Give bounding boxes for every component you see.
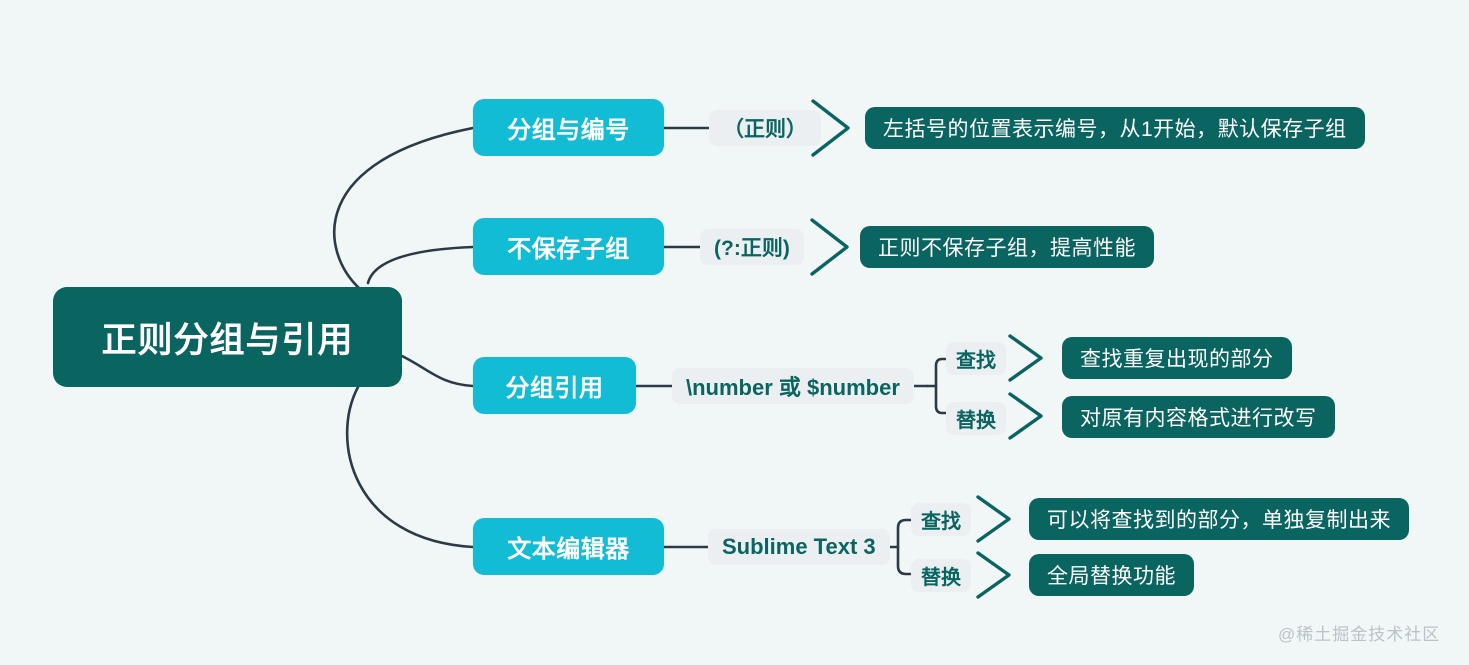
bracket-branch-4 <box>898 520 911 574</box>
leaf-note-grouping[interactable]: 左括号的位置表示编号，从1开始，默认保存子组 <box>865 107 1365 149</box>
leaf-label: 对原有内容格式进行改写 <box>1080 402 1317 432</box>
chevron-right-icon-5 <box>978 497 1009 541</box>
leaf-note-replace-backreference[interactable]: 对原有内容格式进行改写 <box>1062 396 1335 438</box>
chevron-right-icon-3 <box>1010 336 1041 380</box>
root-node-label: 正则分组与引用 <box>101 312 353 363</box>
chevron-right-icon-2 <box>812 220 847 274</box>
subchip-find-backreference[interactable]: 查找 <box>946 342 1006 375</box>
subchip-label: 替换 <box>956 404 996 433</box>
subchip-replace-backreference[interactable]: 替换 <box>946 402 1006 435</box>
branch-node-grouping-numbering[interactable]: 分组与编号 <box>473 99 664 156</box>
branch-node-text-editor[interactable]: 文本编辑器 <box>473 518 664 575</box>
leaf-note-find-backreference[interactable]: 查找重复出现的部分 <box>1062 337 1292 379</box>
watermark: @稀土掘金技术社区 <box>1278 620 1440 645</box>
chevron-right-icon-4 <box>1010 394 1041 438</box>
leaf-note-replace-editor[interactable]: 全局替换功能 <box>1029 554 1194 596</box>
bracket-branch-3 <box>936 359 946 413</box>
chevron-right-icon-6 <box>978 553 1009 597</box>
mindmap-canvas: 正则分组与引用 分组与编号 （正则） 左括号的位置表示编号，从1开始，默认保存子… <box>0 0 1469 665</box>
chip-label: （正则） <box>723 113 807 143</box>
leaf-note-non-capturing[interactable]: 正则不保存子组，提高性能 <box>860 226 1154 268</box>
subchip-label: 查找 <box>956 344 996 373</box>
chip-sublime-text[interactable]: Sublime Text 3 <box>708 529 890 565</box>
branch-label: 文本编辑器 <box>507 529 630 564</box>
chip-label: (?:正则) <box>714 232 790 262</box>
leaf-label: 左括号的位置表示编号，从1开始，默认保存子组 <box>883 113 1347 143</box>
chip-label: \number 或 $number <box>686 370 900 402</box>
subchip-label: 查找 <box>921 505 961 534</box>
leaf-label: 全局替换功能 <box>1047 560 1176 590</box>
leaf-note-find-editor[interactable]: 可以将查找到的部分，单独复制出来 <box>1029 498 1409 540</box>
link-root-to-branch-3 <box>402 356 473 386</box>
link-root-to-branch-2 <box>368 247 473 283</box>
chip-syntax-non-capturing[interactable]: (?:正则) <box>700 229 804 265</box>
branch-label: 分组引用 <box>506 368 604 403</box>
branch-node-backreference[interactable]: 分组引用 <box>473 357 636 414</box>
leaf-label: 可以将查找到的部分，单独复制出来 <box>1047 504 1391 534</box>
link-root-to-branch-1 <box>334 128 473 289</box>
branch-label: 不保存子组 <box>507 229 630 264</box>
chip-label: Sublime Text 3 <box>722 534 876 560</box>
chip-syntax-backreference[interactable]: \number 或 $number <box>672 368 914 404</box>
subchip-label: 替换 <box>921 561 961 590</box>
subchip-find-editor[interactable]: 查找 <box>911 503 971 536</box>
link-root-to-branch-4 <box>347 387 473 547</box>
leaf-label: 查找重复出现的部分 <box>1080 343 1274 373</box>
branch-node-non-capturing[interactable]: 不保存子组 <box>473 218 664 275</box>
leaf-label: 正则不保存子组，提高性能 <box>878 232 1136 262</box>
subchip-replace-editor[interactable]: 替换 <box>911 559 971 592</box>
root-node[interactable]: 正则分组与引用 <box>53 287 402 387</box>
branch-label: 分组与编号 <box>507 110 630 145</box>
chip-syntax-grouping[interactable]: （正则） <box>709 110 821 146</box>
